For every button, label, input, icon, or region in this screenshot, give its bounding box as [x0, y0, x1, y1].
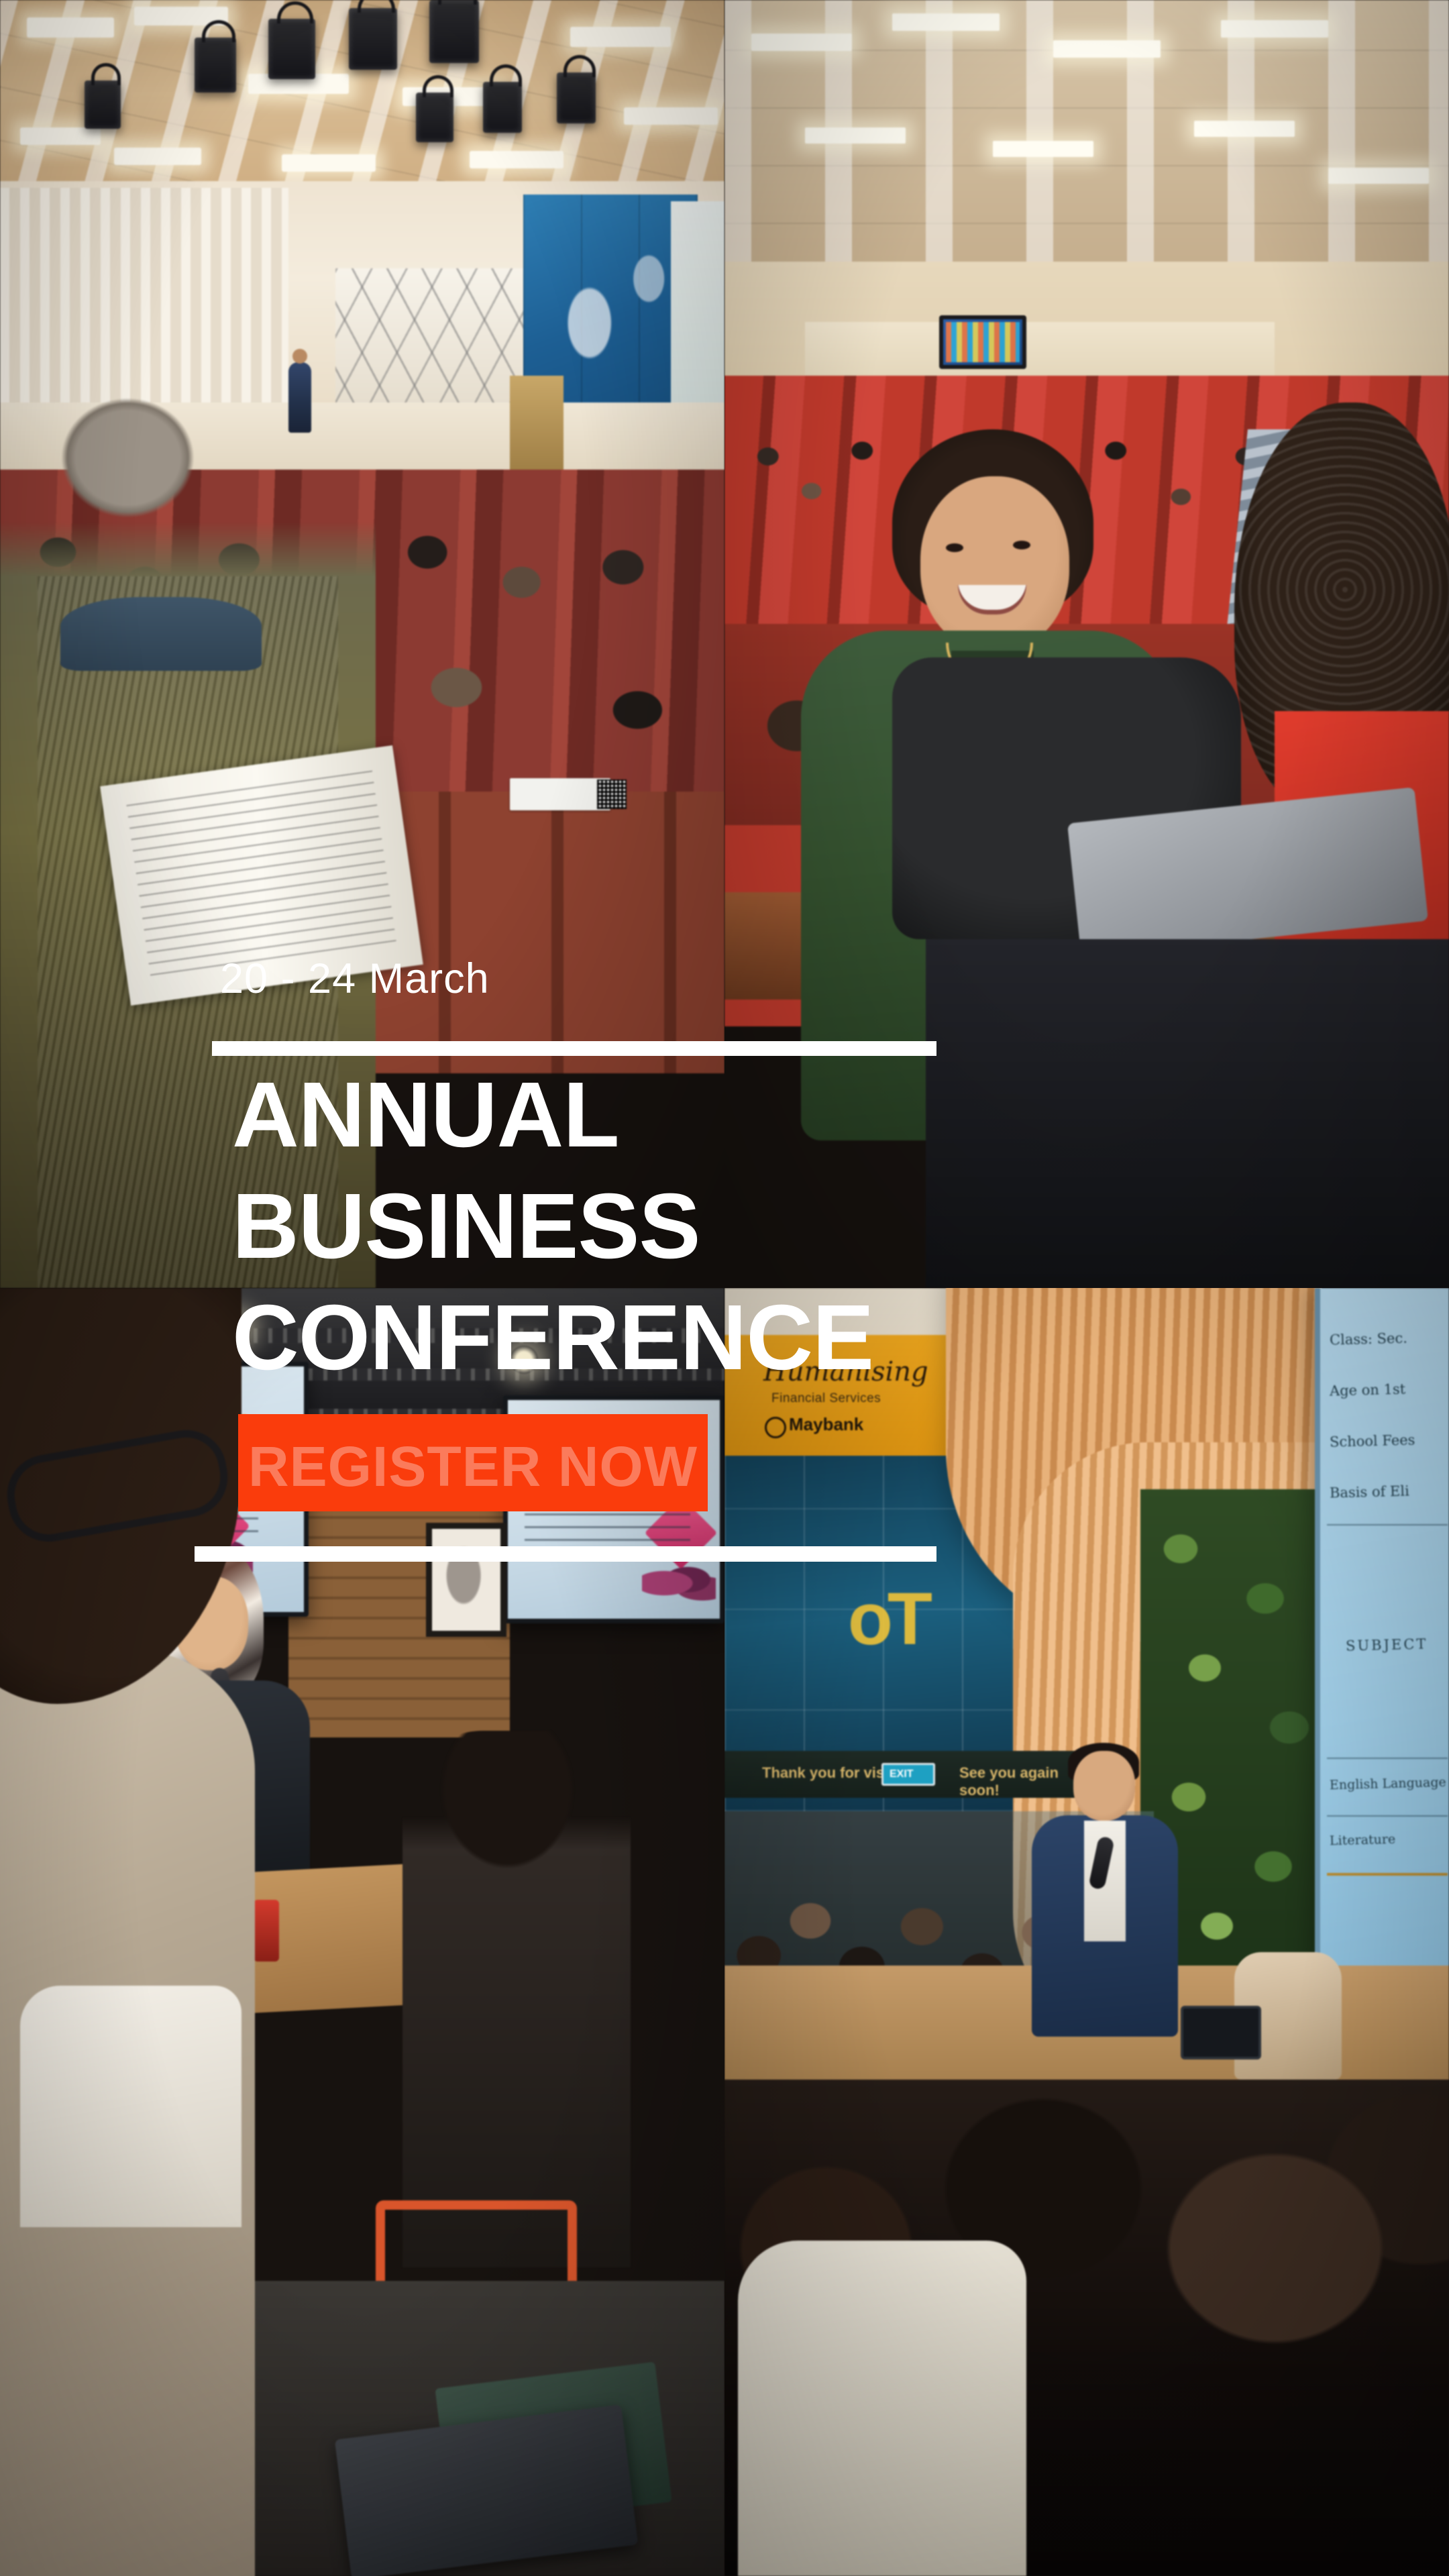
board-row-3: Basis of Eli — [1330, 1483, 1409, 1501]
stage-light — [416, 93, 453, 142]
stage-monitor — [939, 315, 1026, 369]
projection-screen — [671, 201, 724, 402]
maybank-subtitle: Financial Services — [771, 1391, 881, 1406]
pendant-light — [510, 1346, 538, 1374]
board-section-heading: SUBJECT — [1346, 1635, 1428, 1654]
board-row-1: Age on 1st — [1330, 1381, 1406, 1399]
exit-icon — [881, 1763, 935, 1786]
photo-bottom-right: To Humanising Financial Services Maybank… — [724, 1288, 1449, 2576]
stage-light — [85, 80, 121, 129]
stage-light — [195, 38, 236, 93]
photo-collage-grid: To Humanising Financial Services Maybank… — [0, 0, 1449, 2576]
stage-light — [483, 82, 522, 133]
stage-light — [557, 72, 596, 123]
board-subject-1: Literature — [1330, 1832, 1396, 1849]
shirt-collar — [60, 597, 262, 671]
reflected-store-logo: To — [765, 1576, 932, 1690]
dark-trousers — [926, 939, 1449, 1288]
photo-top-right — [724, 0, 1449, 1288]
foreground-light-shirt — [738, 2241, 1026, 2576]
tablet-on-stand — [1181, 2006, 1261, 2059]
printed-program — [100, 745, 423, 1006]
podium — [510, 376, 563, 483]
maybank-tagline: Humanising — [763, 1356, 928, 1387]
photo-bottom-left — [0, 1288, 724, 2576]
qr-code-sticker — [597, 780, 627, 809]
board-row-2: School Fees — [1330, 1432, 1415, 1450]
presentation-screen-right — [503, 1395, 724, 1623]
board-row-0: Class: Sec. — [1330, 1330, 1407, 1348]
foreground-white-shirt — [20, 1986, 241, 2227]
drink-can — [254, 1900, 279, 1962]
framed-artwork — [426, 1523, 506, 1637]
face — [920, 476, 1069, 651]
face — [1073, 1751, 1135, 1821]
board-subject-0: English Language — [1330, 1775, 1446, 1793]
event-poster: To Humanising Financial Services Maybank… — [0, 0, 1449, 2576]
stage-light — [429, 0, 479, 63]
attendee-seated — [402, 1731, 631, 2267]
stage-light — [349, 8, 397, 70]
stage-light — [268, 19, 315, 79]
maybank-brand: Maybank — [789, 1414, 863, 1435]
photo-top-left — [0, 0, 724, 1288]
speaker-navy-blazer — [1026, 1751, 1181, 2106]
